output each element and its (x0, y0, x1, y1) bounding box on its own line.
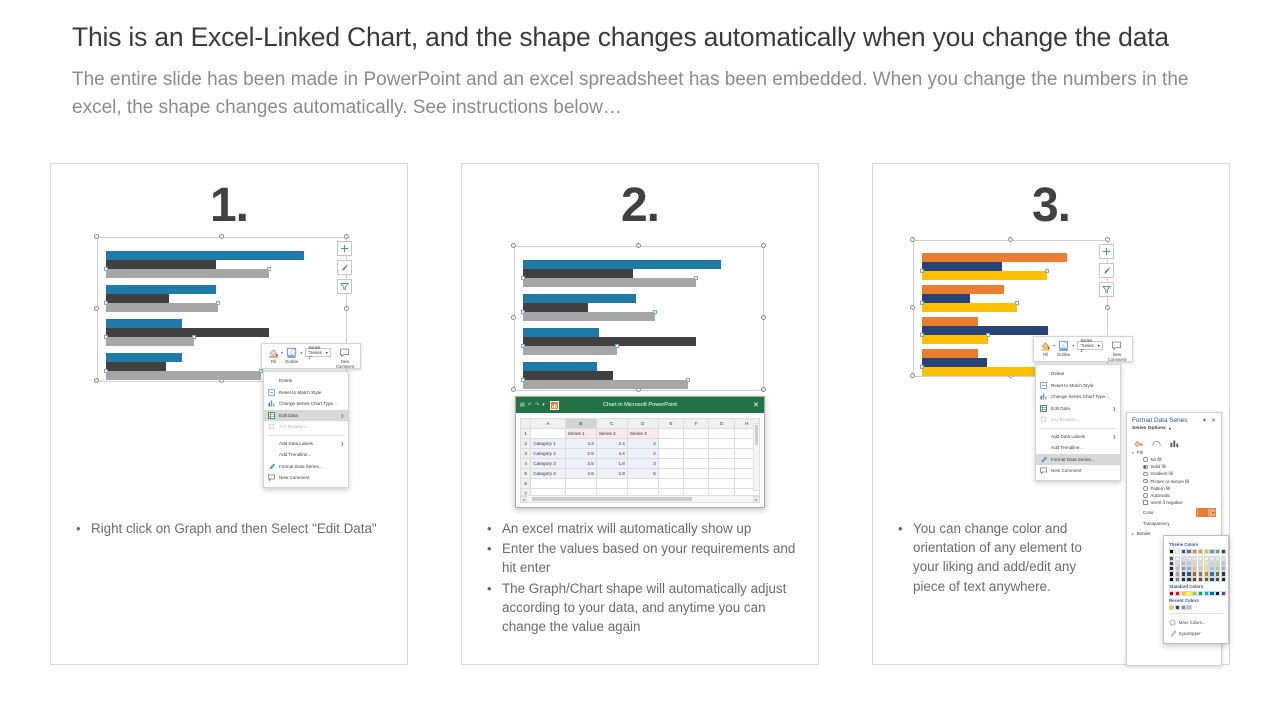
fill-line-tab-icon[interactable] (1133, 435, 1144, 444)
cell-D6[interactable] (627, 479, 658, 489)
cell-E6[interactable] (658, 479, 683, 489)
cell-E1[interactable] (658, 429, 683, 439)
series-select-handle[interactable] (521, 310, 525, 314)
radio-icon[interactable] (1143, 486, 1148, 491)
menu-item-reset-to-match-style[interactable]: Reset to Match Style (264, 387, 348, 399)
chart-group-category-3 (523, 328, 755, 355)
bar-series-3[interactable] (922, 303, 1017, 312)
bar-series-2[interactable] (922, 262, 1002, 271)
list-item: Right click on Graph and then Select "Ed… (69, 519, 389, 538)
option-pattern-fill[interactable]: Pattern fill (1127, 485, 1221, 492)
panel-number-1: 1. (51, 178, 407, 233)
chart-group-category-2 (523, 294, 755, 321)
resize-handle-w[interactable] (94, 306, 99, 311)
chart-object-2[interactable] (514, 246, 764, 391)
cell-C5[interactable]: 2.8 (596, 469, 627, 479)
menu-label: Add Data Labels (279, 441, 313, 446)
pane-header: Format Data Series ▾ ✕ (1127, 413, 1221, 426)
bar-series-2[interactable] (523, 371, 613, 380)
chart-side-buttons-3 (1099, 244, 1114, 301)
scroll-left-icon[interactable]: ◂ (520, 496, 527, 503)
reset-style-icon (267, 388, 276, 397)
excel-grid-body: A B C D E F G H 1 Series 1 Series 2 (516, 413, 764, 503)
cell-E4[interactable] (658, 459, 683, 469)
series-select-handle[interactable] (521, 344, 525, 348)
context-menu-1[interactable]: Delete Reset to Match Style Change Serie… (263, 371, 349, 488)
bar-series-3[interactable] (106, 371, 261, 380)
chevron-down-icon[interactable]: ▾ (1212, 511, 1214, 515)
cell-A5[interactable]: Category 4 (531, 469, 565, 479)
close-icon[interactable]: ✕ (753, 402, 759, 409)
menu-label: Reset to Match Style (1051, 383, 1093, 388)
col-header-A[interactable]: A (531, 419, 565, 429)
menu-item-edit-data[interactable]: Edit Data ❯ (1036, 403, 1120, 415)
reset-style-icon (1039, 381, 1048, 390)
resize-handle-w[interactable] (511, 315, 516, 320)
menu-item-add-data-labels[interactable]: Add Data Labels ❯ (1036, 431, 1120, 443)
new-comment-label-2: Comment (1108, 357, 1126, 362)
excel-window-title: Chart in Microsoft PowerPoint (516, 402, 764, 408)
mini-toolbar-1[interactable]: Fill ▾ Outline ▾ Series "Series 1" ▾ New… (261, 343, 361, 369)
series-select-handle[interactable] (104, 301, 108, 305)
bar-series-1[interactable] (106, 353, 182, 362)
outline-button[interactable]: Outline (283, 347, 300, 364)
chart-plot-area-2 (523, 254, 755, 383)
menu-item-add-trendline[interactable]: Add Trendline... (1036, 442, 1120, 454)
bar-series-3[interactable] (922, 367, 1040, 376)
row-header-2[interactable]: 2 (521, 439, 531, 449)
horizontal-scrollbar[interactable] (520, 495, 760, 503)
bar-series-2[interactable] (106, 294, 169, 303)
menu-label: Edit Data (1051, 406, 1070, 411)
bar-series-3[interactable] (922, 335, 988, 344)
menu-label: 3-D Rotation... (279, 424, 309, 429)
chart-filters-icon[interactable] (337, 279, 352, 294)
rotation-icon (267, 422, 276, 431)
row-header-5[interactable]: 5 (521, 469, 531, 479)
chevron-down-icon[interactable]: ▾ (1169, 426, 1171, 431)
fill-button[interactable]: Fill (266, 347, 281, 364)
bar-series-2[interactable] (523, 337, 696, 346)
option-label: Pattern fill (1151, 486, 1171, 491)
recent-colors-row[interactable] (1169, 605, 1223, 610)
menu-item-add-data-labels[interactable]: Add Data Labels ❯ (264, 438, 348, 450)
col-header-C[interactable]: C (596, 419, 627, 429)
cell-G3[interactable] (709, 449, 734, 459)
recent-swatch[interactable] (1181, 605, 1186, 610)
series-combo-value: Series "Series 1" (1080, 338, 1097, 353)
radio-icon[interactable] (1143, 457, 1148, 462)
step-panel-2: 2. (461, 163, 819, 665)
bar-series-1[interactable] (106, 319, 182, 328)
menu-label: Change Series Chart Type... (1051, 394, 1109, 399)
bar-series-2[interactable] (922, 294, 970, 303)
scroll-right-icon[interactable]: ▸ (753, 496, 760, 503)
new-comment-button[interactable]: New Comment (1106, 340, 1128, 362)
more-colors-icon (1169, 619, 1176, 627)
resize-handle-n[interactable] (219, 234, 224, 239)
bar-series-3[interactable] (106, 337, 194, 346)
cell-F6[interactable] (684, 479, 709, 489)
series-select-handle[interactable] (694, 276, 698, 280)
series-select-handle[interactable] (920, 301, 924, 305)
popup-separator (1169, 613, 1223, 614)
chart-group-category-3 (106, 319, 338, 346)
menu-item-add-trendline[interactable]: Add Trendline... (264, 449, 348, 461)
excel-column-header-row: A B C D E F G H (521, 419, 760, 429)
current-color-swatch (1198, 509, 1208, 516)
table-row: 1 Series 1 Series 2 Series 3 (521, 429, 760, 439)
bar-series-1[interactable] (922, 349, 978, 358)
resize-handle-nw[interactable] (94, 234, 99, 239)
fill-button[interactable]: Fill (1038, 340, 1053, 357)
series-select-handle[interactable] (920, 333, 924, 337)
resize-handle-e[interactable] (344, 306, 349, 311)
bar-series-2[interactable] (523, 269, 633, 278)
cell-C1[interactable]: Series 2 (596, 429, 627, 439)
resize-handle-se[interactable] (761, 387, 766, 392)
row-header-6[interactable]: 6 (521, 479, 531, 489)
chart-side-buttons-1 (337, 241, 352, 298)
scrollbar-thumb[interactable] (755, 425, 758, 445)
series-select-handle[interactable] (216, 301, 220, 305)
menu-label: Add Data Labels (1051, 434, 1085, 439)
page-subtitle: The entire slide has been made in PowerP… (72, 66, 1202, 122)
series-select-handle[interactable] (104, 335, 108, 339)
resize-handle-nw[interactable] (910, 237, 915, 242)
menu-label: Delete (1051, 371, 1064, 376)
option-automatic[interactable]: Automatic (1127, 492, 1221, 499)
bar-series-2[interactable] (106, 328, 269, 337)
chart-group-category-1 (922, 253, 1099, 279)
eyedropper-item[interactable]: Eyedropper (1169, 628, 1223, 639)
comment-icon (267, 473, 276, 482)
menu-label: 3-D Rotation... (1051, 417, 1081, 422)
recent-swatch[interactable] (1186, 605, 1191, 610)
cell-D3[interactable]: 2 (627, 449, 658, 459)
series-select-handle[interactable] (615, 344, 619, 348)
bar-series-2[interactable] (106, 260, 216, 269)
cell-E2[interactable] (658, 439, 683, 449)
menu-label: Change Series Chart Type... (279, 401, 337, 406)
radio-icon[interactable] (1143, 493, 1148, 498)
cell-B2[interactable]: 4.3 (565, 439, 596, 449)
option-label: Picture or texture fill (1151, 479, 1190, 484)
menu-label: Add Trendline... (279, 452, 311, 457)
scrollbar-thumb[interactable] (532, 497, 692, 501)
resize-handle-e[interactable] (761, 315, 766, 320)
resize-handle-ne[interactable] (761, 243, 766, 248)
series-select-handle[interactable] (920, 365, 924, 369)
color-row: Color ▾ (1127, 506, 1221, 519)
resize-handle-nw[interactable] (511, 243, 516, 248)
vertical-scrollbar[interactable] (753, 423, 760, 491)
blank-icon (1039, 443, 1048, 452)
cell-G5[interactable] (709, 469, 734, 479)
series-select-handle[interactable] (653, 310, 657, 314)
cell-F4[interactable] (684, 459, 709, 469)
series-select-handle[interactable] (104, 369, 108, 373)
menu-item-new-comment[interactable]: New Comment (264, 472, 348, 484)
option-invert-if-negative[interactable]: Invert if negative (1127, 499, 1221, 506)
submenu-arrow-icon: ❯ (341, 413, 344, 418)
bar-series-3[interactable] (523, 380, 688, 389)
slide: This is an Excel-Linked Chart, and the s… (0, 0, 1280, 720)
bar-series-3[interactable] (106, 303, 218, 312)
bar-series-2[interactable] (922, 326, 1048, 335)
cell-C2[interactable]: 2.4 (596, 439, 627, 449)
pane-tabs (1127, 431, 1221, 447)
blank-icon (267, 439, 276, 448)
cell-A1[interactable] (531, 429, 565, 439)
menu-item-format-data-series[interactable]: Format Data Series... (264, 461, 348, 473)
menu-label: New Comment (1051, 468, 1081, 473)
series-select-handle[interactable] (1015, 301, 1019, 305)
row-header-4[interactable]: 4 (521, 459, 531, 469)
bar-series-3[interactable] (922, 271, 1047, 280)
bar-series-2[interactable] (106, 362, 166, 371)
page-title: This is an Excel-Linked Chart, and the s… (72, 22, 1212, 53)
cell-F3[interactable] (684, 449, 709, 459)
bar-series-1[interactable] (523, 328, 599, 337)
resize-handle-n[interactable] (636, 243, 641, 248)
list-item: You can change color and orientation of … (891, 519, 1091, 596)
col-header-G[interactable]: G (709, 419, 734, 429)
bar-series-2[interactable] (523, 303, 588, 312)
cell-D4[interactable]: 3 (627, 459, 658, 469)
bar-series-3[interactable] (523, 278, 696, 287)
fill-group-label: Fill (1137, 450, 1143, 455)
blank-icon (1039, 432, 1048, 441)
bar-series-1[interactable] (523, 294, 636, 303)
outline-button[interactable]: Outline (1055, 340, 1072, 357)
recent-swatch[interactable] (1175, 605, 1180, 610)
cell-A6[interactable] (531, 479, 565, 489)
col-header-D[interactable]: D (627, 419, 658, 429)
resize-handle-e[interactable] (1105, 305, 1110, 310)
series-select-handle[interactable] (192, 335, 196, 339)
chart-styles-icon[interactable] (337, 260, 352, 275)
eyedropper-icon (1169, 630, 1176, 638)
fill-label: Fill (271, 359, 276, 364)
cell-F1[interactable] (684, 429, 709, 439)
menu-item-delete[interactable]: Delete (264, 375, 348, 387)
cell-F2[interactable] (684, 439, 709, 449)
cell-G1[interactable] (709, 429, 734, 439)
resize-handle-ne[interactable] (344, 234, 349, 239)
cell-G2[interactable] (709, 439, 734, 449)
panel-number-3: 3. (873, 178, 1229, 233)
series-select-handle[interactable] (521, 378, 525, 382)
mini-toolbar-3[interactable]: Fill ▾ Outline ▾ Series "Series 1" ▾ New… (1033, 336, 1133, 362)
color-dropdown-button[interactable]: ▾ (1196, 508, 1216, 517)
effects-tab-icon[interactable] (1151, 435, 1162, 444)
row-header-1[interactable]: 1 (521, 429, 531, 439)
series-select-handle[interactable] (1045, 269, 1049, 273)
chevron-down-icon[interactable]: ▾ (1098, 343, 1100, 348)
resize-handle-sw[interactable] (94, 378, 99, 383)
cell-G4[interactable] (709, 459, 734, 469)
table-row: 4 Category 3 3.5 1.8 3 (521, 459, 760, 469)
menu-label: Reset to Match Style (279, 390, 321, 395)
resize-handle-w[interactable] (910, 305, 915, 310)
bar-series-1[interactable] (106, 285, 216, 294)
menu-item-format-data-series[interactable]: Format Data Series... (1036, 454, 1120, 466)
radio-icon[interactable] (1143, 472, 1148, 477)
submenu-arrow-icon: ❯ (1113, 406, 1116, 411)
cell-G6[interactable] (709, 479, 734, 489)
menu-item-change-series-chart-type[interactable]: Change Series Chart Type... (264, 398, 348, 410)
select-all-corner[interactable] (521, 419, 531, 429)
option-label: Invert if negative (1151, 500, 1183, 505)
theme-swatch[interactable] (1221, 549, 1226, 554)
series-options-tab-icon[interactable] (1169, 435, 1180, 444)
menu-item-edit-data[interactable]: Edit Data ❯ (264, 410, 348, 422)
cell-F5[interactable] (684, 469, 709, 479)
excel-sheet[interactable]: A B C D E F G H 1 Series 1 Series 2 (520, 418, 760, 499)
new-comment-label-2: Comment (336, 364, 354, 369)
cell-C6[interactable] (596, 479, 627, 489)
col-header-B[interactable]: B (565, 419, 596, 429)
menu-item-3d-rotation: 3-D Rotation... (1036, 414, 1120, 426)
pane-options-caret-icon[interactable]: ▾ (1203, 417, 1206, 424)
recent-swatch[interactable] (1169, 605, 1174, 610)
series-select-combo[interactable]: Series "Series 1" ▾ (305, 348, 331, 357)
list-item: Enter the values based on your requireme… (480, 539, 806, 577)
series-select-handle[interactable] (986, 333, 990, 337)
menu-item-delete[interactable]: Delete (1036, 368, 1120, 380)
instruction-list-3: You can change color and orientation of … (891, 519, 1217, 597)
col-header-E[interactable]: E (658, 419, 683, 429)
menu-item-new-comment[interactable]: New Comment (1036, 465, 1120, 477)
bar-series-1[interactable] (106, 251, 304, 260)
comment-icon (1039, 466, 1048, 475)
bar-series-1[interactable] (922, 253, 1067, 262)
row-header-3[interactable]: 3 (521, 449, 531, 459)
cell-D5[interactable]: 5 (627, 469, 658, 479)
cell-C4[interactable]: 1.8 (596, 459, 627, 469)
chart-elements-icon[interactable] (1099, 244, 1114, 259)
col-header-F[interactable]: F (684, 419, 709, 429)
bar-series-3[interactable] (523, 346, 617, 355)
series-options-label: Series Options (1132, 426, 1166, 431)
cell-B1[interactable]: Series 1 (565, 429, 596, 439)
bar-series-1[interactable] (523, 260, 721, 269)
chart-styles-icon[interactable] (1099, 263, 1114, 278)
table-row: 6 (521, 479, 760, 489)
cell-D1[interactable]: Series 3 (627, 429, 658, 439)
series-select-handle[interactable] (104, 267, 108, 271)
outline-label: Outline (285, 359, 298, 364)
menu-label: Format Data Series... (1051, 457, 1095, 462)
menu-label: New Comment (279, 475, 309, 480)
step-panel-3: 3. (872, 163, 1230, 665)
series-select-handle[interactable] (267, 267, 271, 271)
series-select-handle[interactable] (521, 276, 525, 280)
outline-caret-icon[interactable]: ▾ (300, 350, 302, 355)
cell-E5[interactable] (658, 469, 683, 479)
chart-filters-icon[interactable] (1099, 282, 1114, 297)
option-gradient-fill[interactable]: Gradient fill (1127, 470, 1221, 477)
color-label: Color (1143, 510, 1154, 515)
context-menu-3[interactable]: Delete Reset to Match Style Change Serie… (1035, 364, 1121, 481)
radio-icon[interactable] (1143, 479, 1148, 484)
series-combo-value: Series "Series 1" (308, 345, 325, 360)
resize-handle-sw[interactable] (910, 373, 915, 378)
list-item: An excel matrix will automatically show … (480, 519, 806, 538)
blank-icon (1039, 369, 1048, 378)
bar-series-3[interactable] (523, 312, 655, 321)
bar-series-3[interactable] (106, 269, 269, 278)
instruction-list-2: An excel matrix will automatically show … (480, 519, 806, 637)
bar-series-1[interactable] (922, 285, 1004, 294)
cell-B5[interactable]: 4.5 (565, 469, 596, 479)
more-colors-item[interactable]: More Colors... (1169, 617, 1223, 628)
standard-swatch[interactable] (1221, 591, 1226, 596)
cell-B3[interactable]: 2.5 (565, 449, 596, 459)
submenu-arrow-icon: ❯ (1113, 434, 1116, 439)
expand-triangle-icon[interactable]: ▾ (1132, 451, 1134, 455)
chevron-down-icon[interactable]: ▾ (326, 350, 328, 355)
chart-elements-icon[interactable] (337, 241, 352, 256)
outline-caret-icon[interactable]: ▾ (1072, 343, 1074, 348)
radio-icon[interactable] (1143, 465, 1148, 470)
close-icon[interactable]: ✕ (1211, 417, 1216, 424)
resize-handle-n[interactable] (1008, 237, 1013, 242)
cell-B4[interactable]: 3.5 (565, 459, 596, 469)
option-no-fill[interactable]: No fill (1127, 456, 1221, 463)
menu-item-reset-to-match-style[interactable]: Reset to Match Style (1036, 380, 1120, 392)
bar-series-1[interactable] (922, 317, 978, 326)
fill-group-header[interactable]: ▾ Fill (1127, 447, 1221, 456)
edit-data-icon (267, 411, 276, 420)
chart-type-icon (1039, 392, 1048, 401)
cell-A3[interactable]: Category 2 (531, 449, 565, 459)
cell-A2[interactable]: Category 1 (531, 439, 565, 449)
cell-E3[interactable] (658, 449, 683, 459)
resize-handle-sw[interactable] (511, 387, 516, 392)
menu-separator (1040, 428, 1116, 429)
menu-item-change-series-chart-type[interactable]: Change Series Chart Type... (1036, 391, 1120, 403)
cell-D2[interactable]: 2 (627, 439, 658, 449)
submenu-arrow-icon: ❯ (341, 441, 344, 446)
resize-handle-ne[interactable] (1105, 237, 1110, 242)
series-select-combo[interactable]: Series "Series 1" ▾ (1077, 341, 1103, 350)
menu-label: Format Data Series... (279, 464, 323, 469)
edit-data-icon (1039, 404, 1048, 413)
series-select-handle[interactable] (686, 378, 690, 382)
checkbox-icon[interactable] (1143, 500, 1148, 505)
list-item: The Graph/Chart shape will automatically… (480, 579, 806, 637)
eyedropper-label: Eyedropper (1179, 631, 1201, 636)
theme-swatch[interactable] (1221, 577, 1226, 582)
cell-A4[interactable]: Category 3 (531, 459, 565, 469)
bar-series-2[interactable] (922, 358, 987, 367)
option-label: Solid fill (1151, 464, 1166, 469)
new-comment-button[interactable]: New Comment (334, 347, 356, 369)
menu-item-3d-rotation: 3-D Rotation... (264, 421, 348, 433)
excel-window[interactable]: ▤ ↶ ↷ ▾ Chart in Microsoft PowerPoint ✕ … (515, 396, 765, 508)
instruction-list-1: Right click on Graph and then Select "Ed… (69, 519, 395, 539)
option-solid-fill[interactable]: Solid fill (1127, 463, 1221, 470)
series-select-handle[interactable] (920, 269, 924, 273)
blank-icon (267, 376, 276, 385)
excel-title-bar[interactable]: ▤ ↶ ↷ ▾ Chart in Microsoft PowerPoint ✕ (516, 397, 764, 413)
bar-series-1[interactable] (523, 362, 597, 371)
cell-B6[interactable] (565, 479, 596, 489)
cell-C3[interactable]: 4.4 (596, 449, 627, 459)
option-picture-or-texture-fill[interactable]: Picture or texture fill (1127, 478, 1221, 485)
